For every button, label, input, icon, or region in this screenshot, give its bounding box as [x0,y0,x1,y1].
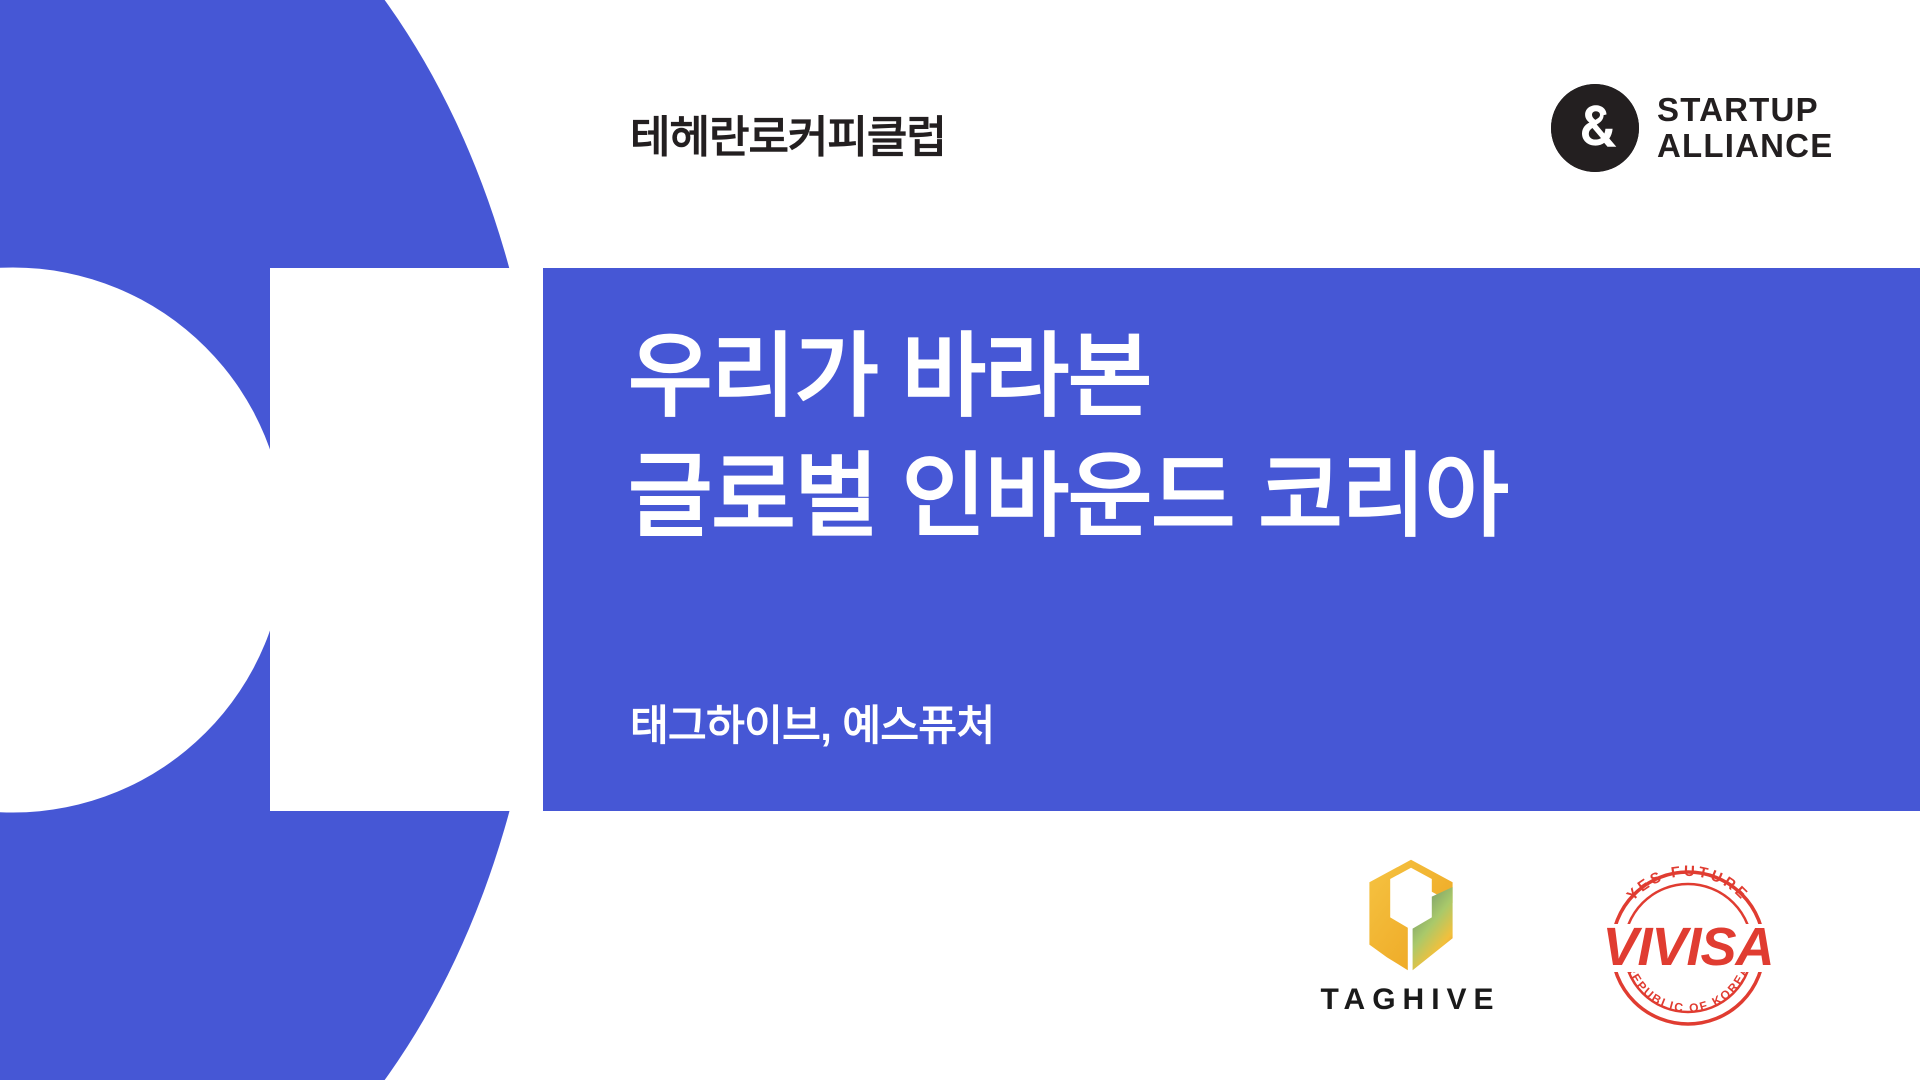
main-headline: 우리가 바라본 글로벌 인바운드 코리아 [628,318,1508,557]
taghive-hexagon-icon [1363,855,1459,975]
ampersand-circle-icon [1551,84,1639,172]
event-promo-card: 0605 Wed. 테헤란로커피클럽 STARTUP ALLIANCE 우리가 … [0,0,1920,1080]
startup-alliance-wordmark: STARTUP ALLIANCE [1657,92,1833,163]
headline-line-2: 글로벌 인바운드 코리아 [628,438,1508,558]
startup-alliance-logo: STARTUP ALLIANCE [1551,84,1833,172]
alliance-line-1: STARTUP [1657,92,1833,128]
alliance-line-2: ALLIANCE [1657,128,1833,164]
svg-text:VIVISA: VIVISA [1602,917,1773,977]
event-date-block: 0605 Wed. [52,462,173,580]
sponsor-logo-taghive: TAGHIVE [1298,855,1523,1017]
speakers-subtitle: 태그하이브, 예스퓨처 [630,692,995,753]
event-date-day: 0605 [52,462,173,521]
taghive-wordmark: TAGHIVE [1298,983,1523,1017]
vivisa-stamp-icon: YES FUTURE REPUBLIC OF KOREA VIVISA [1588,860,1788,1030]
event-date-weekday: Wed. [52,521,173,580]
headline-line-1: 우리가 바라본 [628,318,1508,438]
page-title: 테헤란로커피클럽 [630,101,946,165]
sponsor-logo-vivisa: YES FUTURE REPUBLIC OF KOREA VIVISA [1588,860,1788,1030]
c-shape-opening-notch [270,268,545,811]
